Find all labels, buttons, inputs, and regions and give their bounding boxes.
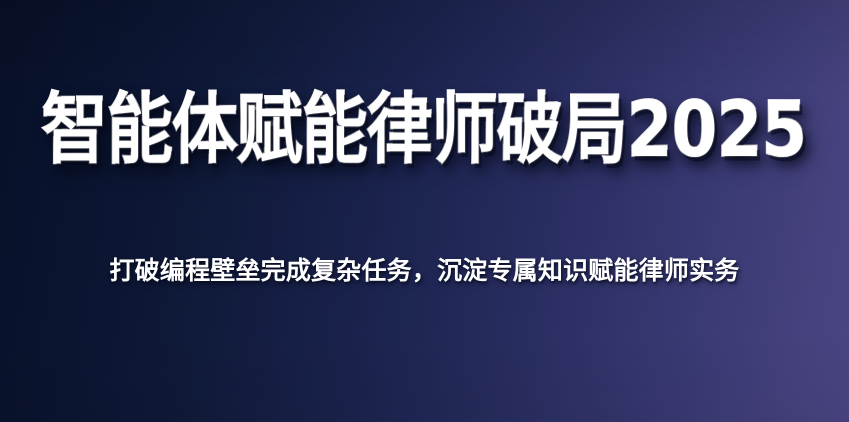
banner-content: 智能体赋能律师破局2025 打破编程壁垒完成复杂任务，沉淀专属知识赋能律师实务 bbox=[0, 0, 849, 422]
banner-subtitle: 打破编程壁垒完成复杂任务，沉淀专属知识赋能律师实务 bbox=[109, 258, 739, 283]
course-banner: 智能体赋能律师破局2025 打破编程壁垒完成复杂任务，沉淀专属知识赋能律师实务 bbox=[0, 0, 849, 422]
banner-title-row: 智能体赋能律师破局2025 bbox=[0, 86, 849, 176]
banner-subtitle-row: 打破编程壁垒完成复杂任务，沉淀专属知识赋能律师实务 bbox=[0, 252, 849, 288]
banner-title: 智能体赋能律师破局2025 bbox=[42, 93, 807, 170]
